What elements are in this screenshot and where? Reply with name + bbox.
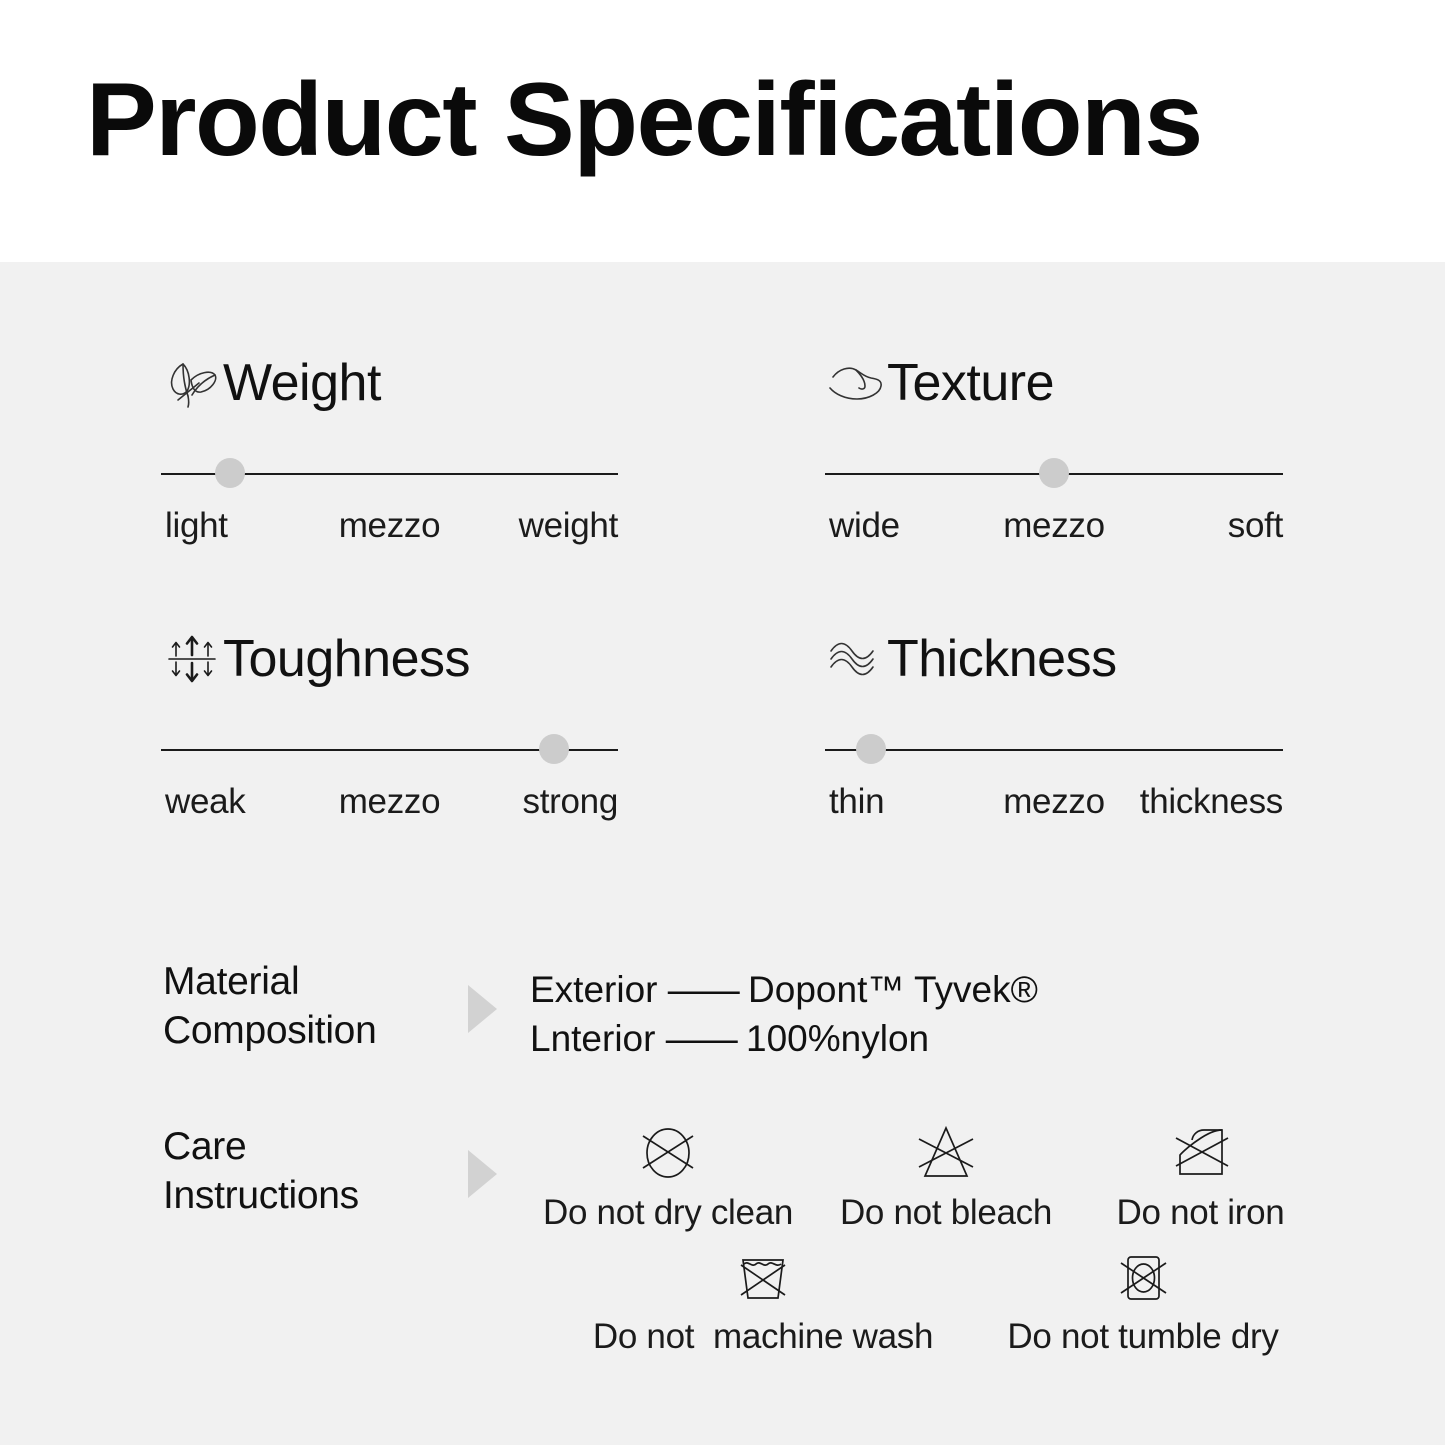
material-part: Lnterior [530,1018,655,1059]
do-not-machine-wash-icon [563,1248,963,1313]
spec-title-toughness: Toughness [223,633,470,685]
chevron-right-icon [468,1150,497,1198]
waves-icon [825,631,887,687]
material-values: Exterior —— Dopont™ Tyvek® Lnterior —— 1… [530,965,1038,1063]
spec-header-thickness: Thickness [825,628,1283,690]
scale-label-low: weak [165,782,246,822]
spec-header-weight: Weight [161,352,618,414]
page-title: Product Specifications [86,68,1202,172]
do-not-dry-clean-icon [528,1122,808,1189]
header-banner: Product Specifications [0,0,1445,262]
material-part: Exterior [530,969,657,1010]
do-not-tumble-dry-icon [983,1248,1303,1313]
material-composition-label: Material Composition [163,957,376,1055]
scale-labels-weight: light mezzo weight [161,506,618,554]
spec-title-texture: Texture [887,357,1054,409]
care-label: Do not iron [1088,1193,1313,1233]
do-not-bleach-icon [816,1122,1076,1189]
slider-handle[interactable] [1039,458,1069,488]
slider-thickness[interactable] [825,732,1283,766]
slider-toughness[interactable] [161,732,618,766]
care-label: Do not machine wash [563,1317,963,1357]
spec-block-toughness: Toughness weak mezzo strong [161,628,618,830]
scale-label-mid: mezzo [1003,506,1105,546]
material-row-exterior: Exterior —— Dopont™ Tyvek® [530,965,1038,1014]
care-label: Do not dry clean [528,1193,808,1233]
care-item-do-not-bleach: Do not bleach [816,1122,1076,1233]
material-row-interior: Lnterior —— 100%nylon [530,1014,1038,1063]
slider-texture[interactable] [825,456,1283,490]
scale-labels-texture: wide mezzo soft [825,506,1283,554]
scale-labels-thickness: thin mezzo thickness [825,782,1283,830]
spec-block-thickness: Thickness thin mezzo thickness [825,628,1283,830]
scale-label-high: soft [1228,506,1283,546]
care-item-do-not-machine-wash: Do not machine wash [563,1248,963,1357]
slider-handle[interactable] [215,458,245,488]
spec-title-weight: Weight [223,357,381,409]
spec-block-weight: Weight light mezzo weight [161,352,618,554]
spec-block-texture: Texture wide mezzo soft [825,352,1283,554]
material-dash: —— [668,969,738,1010]
slider-handle[interactable] [539,734,569,764]
scale-label-low: wide [829,506,900,546]
material-value: 100%nylon [746,1018,929,1059]
slider-track [825,749,1283,751]
product-spec-infographic: Product Specifications Weight light [0,0,1445,1445]
material-dash: —— [666,1018,736,1059]
slider-weight[interactable] [161,456,618,490]
slider-handle[interactable] [856,734,886,764]
material-value: Dopont™ Tyvek® [748,969,1038,1010]
scale-label-low: light [165,506,228,546]
chevron-right-icon [468,985,497,1033]
care-label: Do not bleach [816,1193,1076,1233]
spec-header-texture: Texture [825,352,1283,414]
do-not-iron-icon [1088,1122,1313,1189]
stretch-arrows-icon [161,631,223,687]
care-instructions-label: Care Instructions [163,1122,359,1220]
care-item-do-not-dry-clean: Do not dry clean [528,1122,808,1233]
spec-title-thickness: Thickness [887,633,1117,685]
care-item-do-not-tumble-dry: Do not tumble dry [983,1248,1303,1357]
care-label: Do not tumble dry [983,1317,1303,1357]
scale-label-low: thin [829,782,884,822]
scale-label-mid: mezzo [339,782,441,822]
scale-label-mid: mezzo [1003,782,1105,822]
scale-label-mid: mezzo [339,506,441,546]
scale-label-high: strong [523,782,618,822]
scale-labels-toughness: weak mezzo strong [161,782,618,830]
care-item-do-not-iron: Do not iron [1088,1122,1313,1233]
spec-header-toughness: Toughness [161,628,618,690]
scale-label-high: thickness [1140,782,1283,822]
care-instructions-row: Care Instructions Do not dry clean [163,1122,1303,1372]
feather-icon [161,355,223,411]
hand-icon [825,355,887,411]
scale-label-high: weight [519,506,618,546]
material-composition-row: Material Composition Exterior —— Dopont™… [163,957,1283,1067]
